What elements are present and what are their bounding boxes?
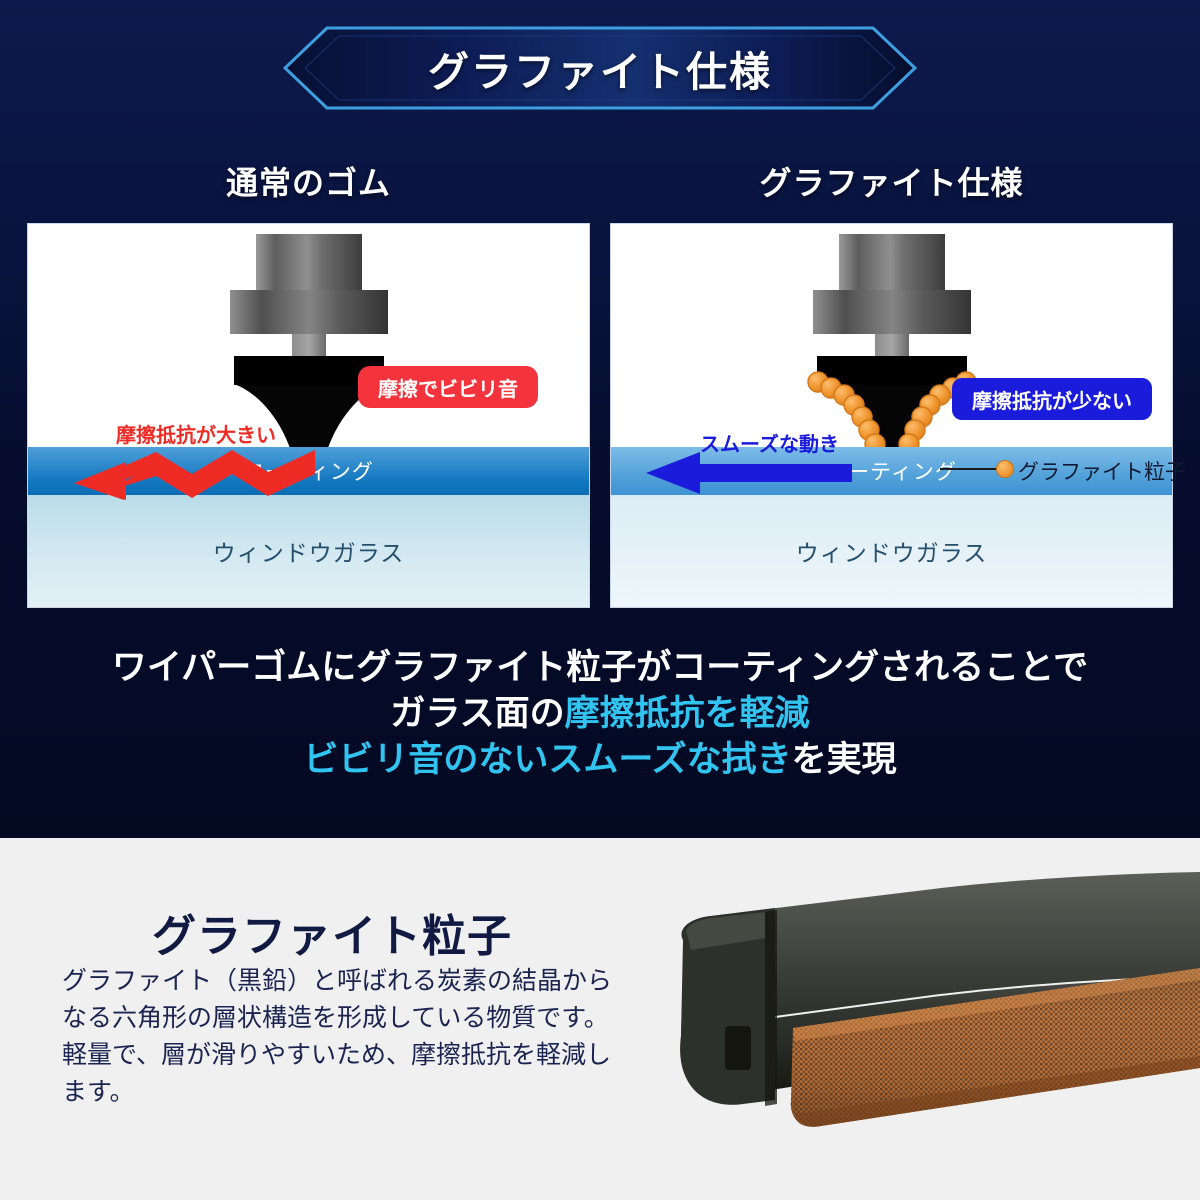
- panel-title-graphite: グラファイト仕様: [610, 150, 1173, 212]
- summary-description: ワイパーゴムにグラファイト粒子がコーティングされることで ガラス面の摩擦抵抗を軽…: [0, 645, 1200, 784]
- description-line-2: ガラス面の摩擦抵抗を軽減: [0, 691, 1200, 737]
- title-banner: グラファイト仕様: [283, 26, 917, 110]
- high-friction-arrow-icon: [72, 440, 317, 500]
- bottom-body-text: グラファイト（黒鉛）と呼ばれる炭素の結晶からなる六角形の層状構造を形成している物…: [62, 963, 627, 1111]
- layer-glass-normal: ウィンドウガラス: [28, 495, 589, 607]
- description-line-2-pre: ガラス面の: [390, 694, 564, 733]
- graphite-particle-dot-icon: [996, 460, 1014, 478]
- page-title: グラファイト仕様: [283, 26, 917, 110]
- bottom-heading: グラファイト粒子: [152, 900, 512, 964]
- badge-friction-noise: 摩擦でビビリ音: [358, 366, 538, 408]
- particle-callout-line: [940, 468, 998, 470]
- panel-card-normal: コーティング ウィンドウガラス: [27, 223, 590, 608]
- product-photo-wiper-rubber: [625, 868, 1200, 1168]
- smooth-motion-arrow-icon: [644, 450, 854, 496]
- bottom-info-section: グラファイト粒子 グラファイト（黒鉛）と呼ばれる炭素の結晶からなる六角形の層状構…: [0, 838, 1200, 1200]
- description-line-2-highlight: 摩擦抵抗を軽減: [565, 694, 810, 733]
- panel-title-normal: 通常のゴム: [27, 150, 590, 212]
- description-line-3-post: を実現: [792, 740, 897, 779]
- description-line-3-highlight: ビビリ音のないスムーズな拭き: [303, 740, 791, 779]
- top-navy-section: グラファイト仕様 通常のゴム: [0, 0, 1200, 838]
- layer-glass-graphite: ウィンドウガラス: [611, 495, 1172, 607]
- badge-low-friction: 摩擦抵抗が少ない: [952, 378, 1152, 420]
- description-line-3: ビビリ音のないスムーズな拭きを実現: [0, 737, 1200, 783]
- description-line-1: ワイパーゴムにグラファイト粒子がコーティングされることで: [0, 645, 1200, 691]
- particle-callout-label: グラファイト粒子: [1018, 456, 1186, 486]
